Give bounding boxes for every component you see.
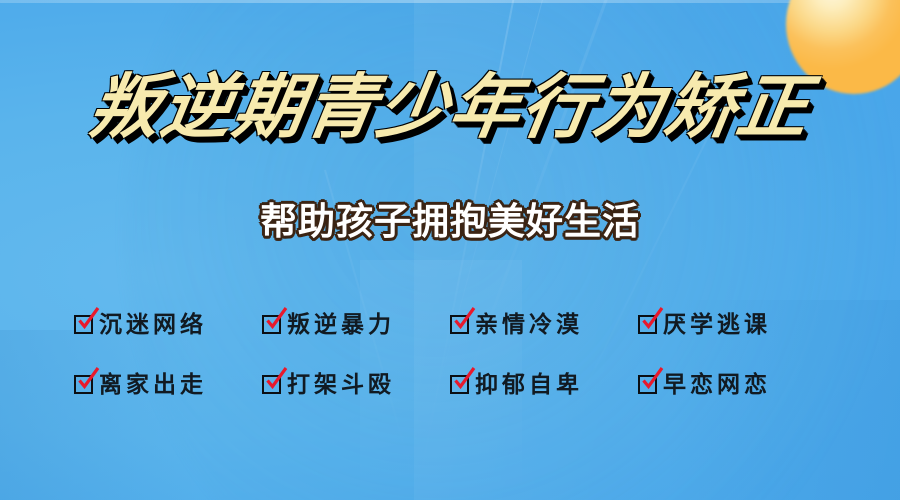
checked-checkbox-icon <box>74 375 93 394</box>
list-item: 沉迷网络 <box>74 313 207 336</box>
checked-checkbox-icon <box>450 375 469 394</box>
checked-checkbox-icon <box>638 315 657 334</box>
list-item-label: 打架斗殴 <box>287 373 395 396</box>
list-item-label: 离家出走 <box>99 373 207 396</box>
list-item: 离家出走 <box>74 373 207 396</box>
list-item-label: 厌学逃课 <box>663 313 771 336</box>
list-item: 叛逆暴力 <box>262 313 395 336</box>
checked-checkbox-icon <box>638 375 657 394</box>
issue-checklist: 沉迷网络 叛逆暴力 亲情冷漠 厌学逃课 <box>74 294 826 414</box>
list-item-label: 抑郁自卑 <box>475 373 583 396</box>
list-item-label: 早恋网恋 <box>663 373 771 396</box>
checked-checkbox-icon <box>450 315 469 334</box>
page-subtitle: 帮助孩子拥抱美好生活 <box>260 203 640 240</box>
list-item: 亲情冷漠 <box>450 313 583 336</box>
checked-checkbox-icon <box>262 375 281 394</box>
list-item: 早恋网恋 <box>638 373 771 396</box>
list-item-label: 叛逆暴力 <box>287 313 395 336</box>
list-item-label: 亲情冷漠 <box>475 313 583 336</box>
list-item: 打架斗殴 <box>262 373 395 396</box>
headline-area: 叛逆期青少年行为矫正 <box>0 72 900 142</box>
top-highlight-strip <box>0 0 900 3</box>
checked-checkbox-icon <box>74 315 93 334</box>
subheadline-area: 帮助孩子拥抱美好生活 <box>0 203 900 240</box>
list-item: 抑郁自卑 <box>450 373 583 396</box>
checked-checkbox-icon <box>262 315 281 334</box>
list-item: 厌学逃课 <box>638 313 771 336</box>
promo-banner: 叛逆期青少年行为矫正 帮助孩子拥抱美好生活 沉迷网络 叛逆暴力 <box>0 0 900 500</box>
list-item-label: 沉迷网络 <box>99 313 207 336</box>
page-title: 叛逆期青少年行为矫正 <box>84 72 815 142</box>
